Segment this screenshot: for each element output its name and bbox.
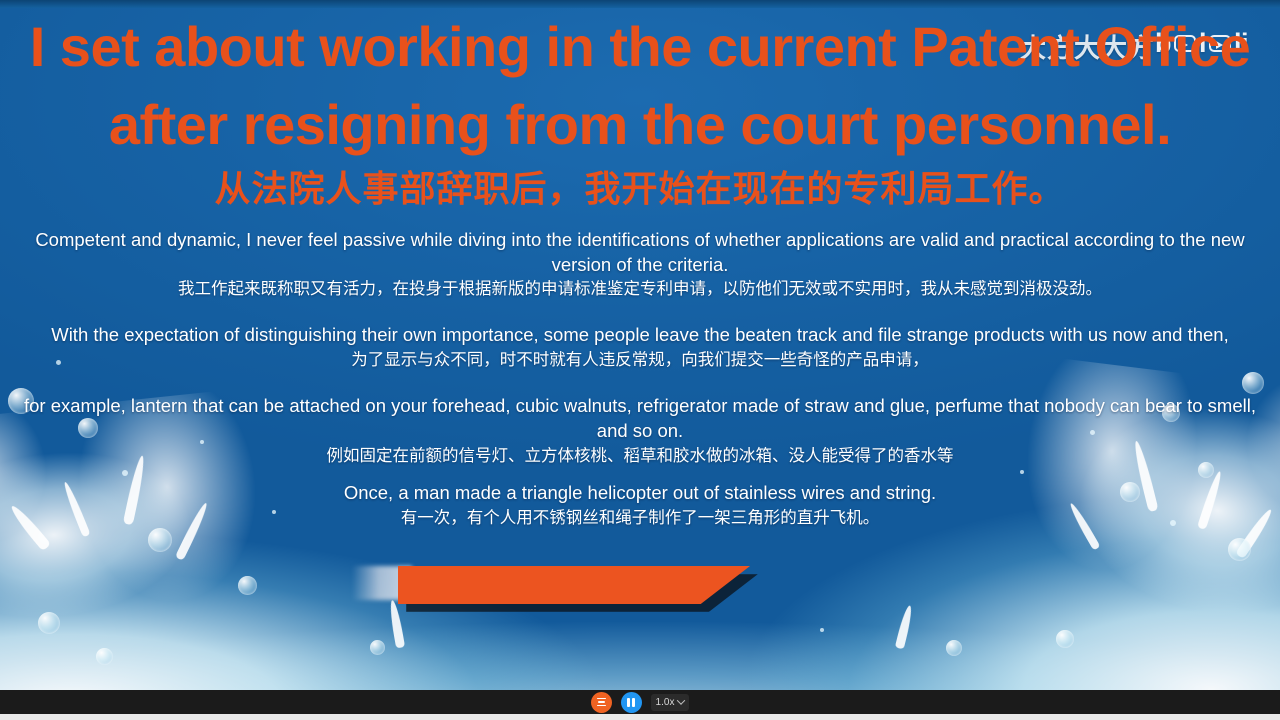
chevron-down-icon	[677, 696, 685, 704]
playlist-icon[interactable]	[591, 692, 612, 713]
paragraph-block: for example, lantern that can be attache…	[0, 394, 1280, 467]
pause-bar	[632, 698, 635, 707]
video-surface[interactable]: 大方大大方 b l li I set about working in the …	[0, 0, 1280, 690]
paragraph-en: Once, a man made a triangle helicopter o…	[0, 481, 1280, 506]
playback-speed-selector[interactable]: 1.0x	[651, 694, 690, 711]
page-bottom-strip	[0, 714, 1280, 720]
paragraph-block: Once, a man made a triangle helicopter o…	[0, 481, 1280, 530]
playback-speed-value: 1.0x	[656, 697, 675, 708]
paragraph-cn: 为了显示与众不同，时不时就有人违反常规，向我们提交一些奇怪的产品申请，	[0, 348, 1280, 372]
slide-title-cn: 从法院人事部辞职后，我开始在现在的专利局工作。	[20, 167, 1260, 212]
player-control-bar[interactable]: 1.0x	[0, 690, 1280, 714]
pause-button[interactable]	[621, 692, 642, 713]
slide-content: I set about working in the current Paten…	[0, 0, 1280, 690]
paragraph-block: With the expectation of distinguishing t…	[0, 323, 1280, 372]
paragraph-block: Competent and dynamic, I never feel pass…	[0, 228, 1280, 301]
paragraph-en: for example, lantern that can be attache…	[0, 394, 1280, 444]
playlist-line	[598, 701, 605, 703]
paragraph-en: With the expectation of distinguishing t…	[0, 323, 1280, 348]
paragraph-en: Competent and dynamic, I never feel pass…	[0, 228, 1280, 278]
paragraph-cn: 例如固定在前额的信号灯、立方体核桃、稻草和胶水做的冰箱、没人能受得了的香水等	[0, 444, 1280, 468]
screen: 大方大大方 b l li I set about working in the …	[0, 0, 1280, 720]
slide-title-en: I set about working in the current Paten…	[20, 8, 1260, 165]
playlist-line	[597, 705, 606, 707]
playlist-line	[597, 698, 606, 700]
pause-bar	[627, 698, 630, 707]
paragraph-cn: 有一次，有个人用不锈钢丝和绳子制作了一架三角形的直升飞机。	[0, 506, 1280, 530]
paragraph-cn: 我工作起来既称职又有活力，在投身于根据新版的申请标准鉴定专利申请，以防他们无效或…	[0, 277, 1280, 301]
